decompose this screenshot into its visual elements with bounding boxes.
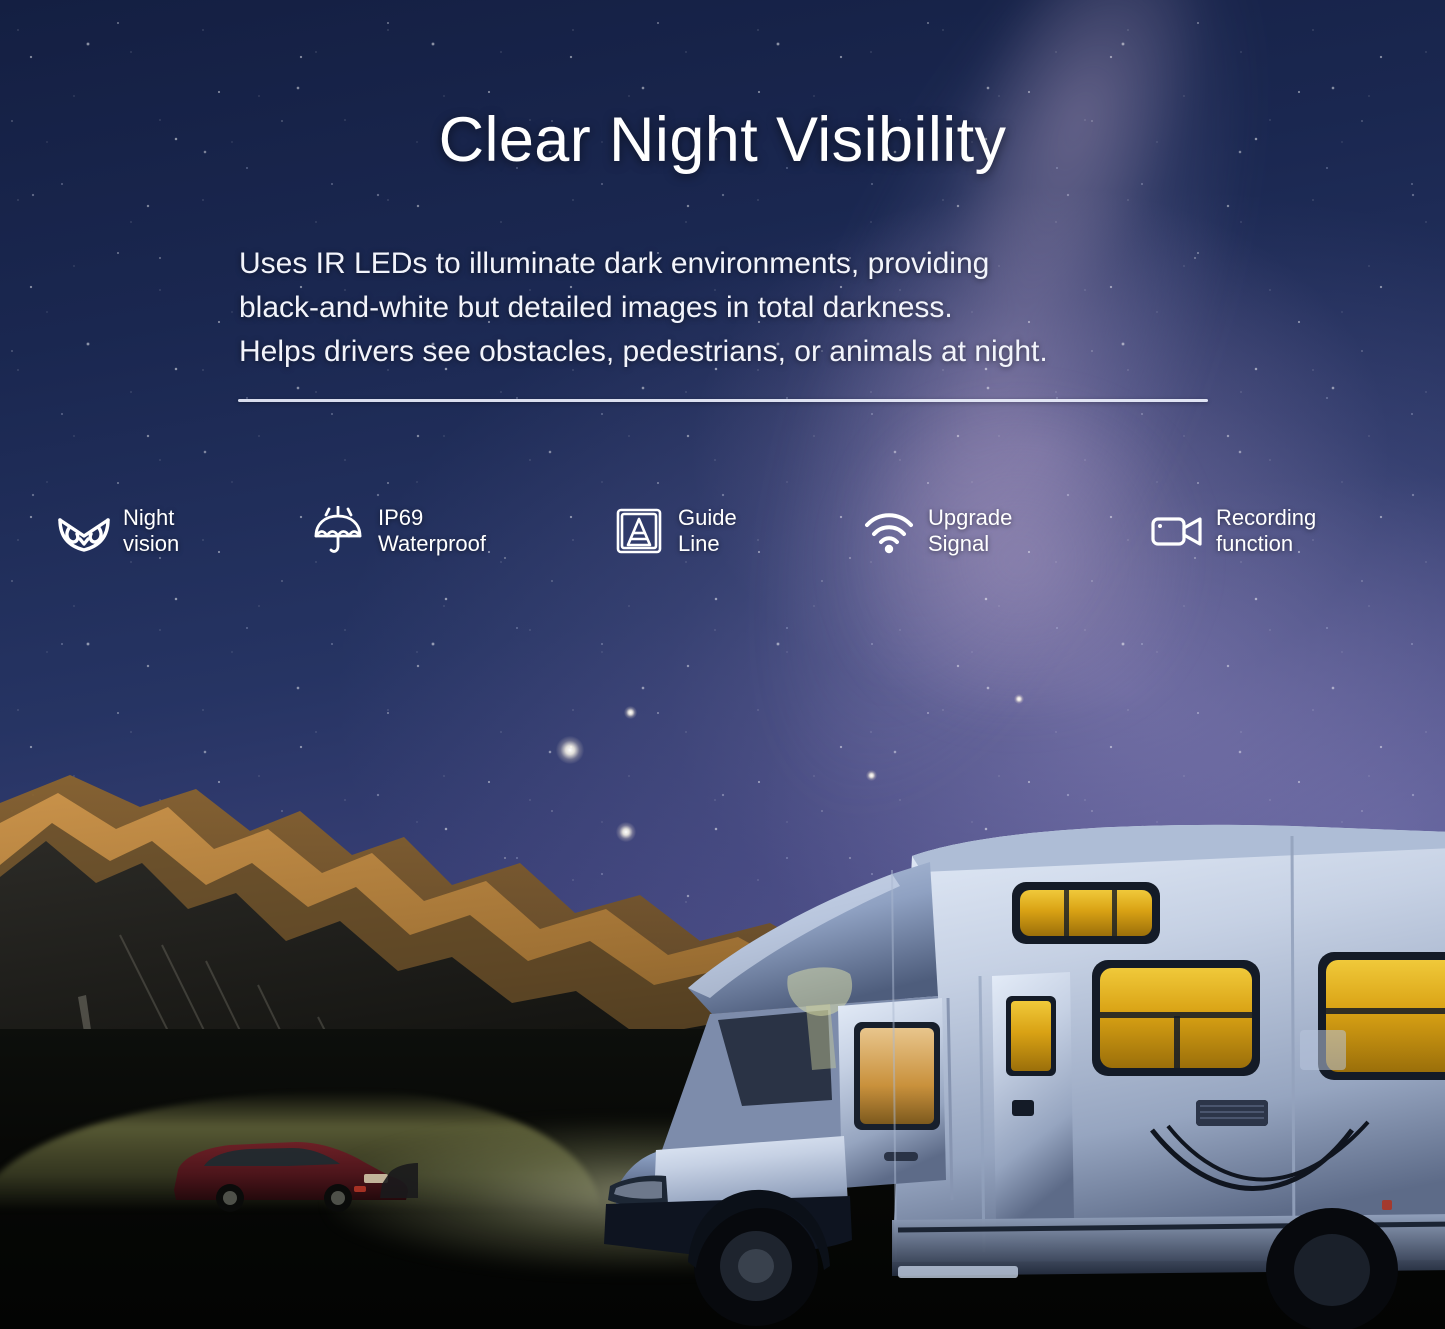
feature-label-line1: IP69 xyxy=(378,505,423,530)
description-line-3: Helps drivers see obstacles, pedestrians… xyxy=(239,330,1239,374)
horizontal-divider xyxy=(238,399,1208,402)
feature-label-upgrade-signal: Upgrade Signal xyxy=(928,505,1012,557)
feature-label-line1: Guide xyxy=(678,505,737,530)
feature-label-line2: Signal xyxy=(928,531,989,556)
bright-star-small-c xyxy=(1014,694,1024,704)
description-line-2: black-and-white but detailed images in t… xyxy=(239,286,1239,330)
night-vision-promo-banner: Clear Night Visibility Uses IR LEDs to i… xyxy=(0,0,1445,1329)
feature-item-guide-line: Guide Line xyxy=(611,505,861,557)
feature-item-upgrade-signal: Upgrade Signal xyxy=(861,505,1149,557)
umbrella-waterproof-icon xyxy=(311,506,367,556)
feature-item-waterproof: IP69 Waterproof xyxy=(311,505,611,557)
feature-label-line2: function xyxy=(1216,531,1293,556)
feature-label-guide-line: Guide Line xyxy=(678,505,737,557)
feature-list: Night vision IP69 Waterproof xyxy=(56,505,1396,577)
rv-rear-wheel xyxy=(1266,1208,1398,1329)
bright-star-small-a xyxy=(624,706,637,719)
description-text: Uses IR LEDs to illuminate dark environm… xyxy=(239,242,1239,374)
parked-red-car xyxy=(168,1136,418,1216)
feature-label-recording: Recording function xyxy=(1216,505,1316,557)
guide-line-screen-icon xyxy=(611,506,667,556)
feature-label-line2: vision xyxy=(123,531,179,556)
video-camera-icon xyxy=(1149,506,1205,556)
feature-item-recording: Recording function xyxy=(1149,505,1396,557)
feature-label-line1: Night xyxy=(123,505,174,530)
description-line-1: Uses IR LEDs to illuminate dark environm… xyxy=(239,242,1239,286)
feature-label-waterproof: IP69 Waterproof xyxy=(378,505,486,557)
wifi-signal-icon xyxy=(861,506,917,556)
owl-night-vision-icon xyxy=(56,506,112,556)
feature-label-line1: Upgrade xyxy=(928,505,1012,530)
feature-label-line1: Recording xyxy=(1216,505,1316,530)
feature-label-line2: Waterproof xyxy=(378,531,486,556)
feature-label-line2: Line xyxy=(678,531,720,556)
feature-item-night-vision: Night vision xyxy=(56,505,311,557)
rv-motorhome xyxy=(592,800,1445,1329)
page-title: Clear Night Visibility xyxy=(0,104,1445,176)
feature-label-night-vision: Night vision xyxy=(123,505,179,557)
